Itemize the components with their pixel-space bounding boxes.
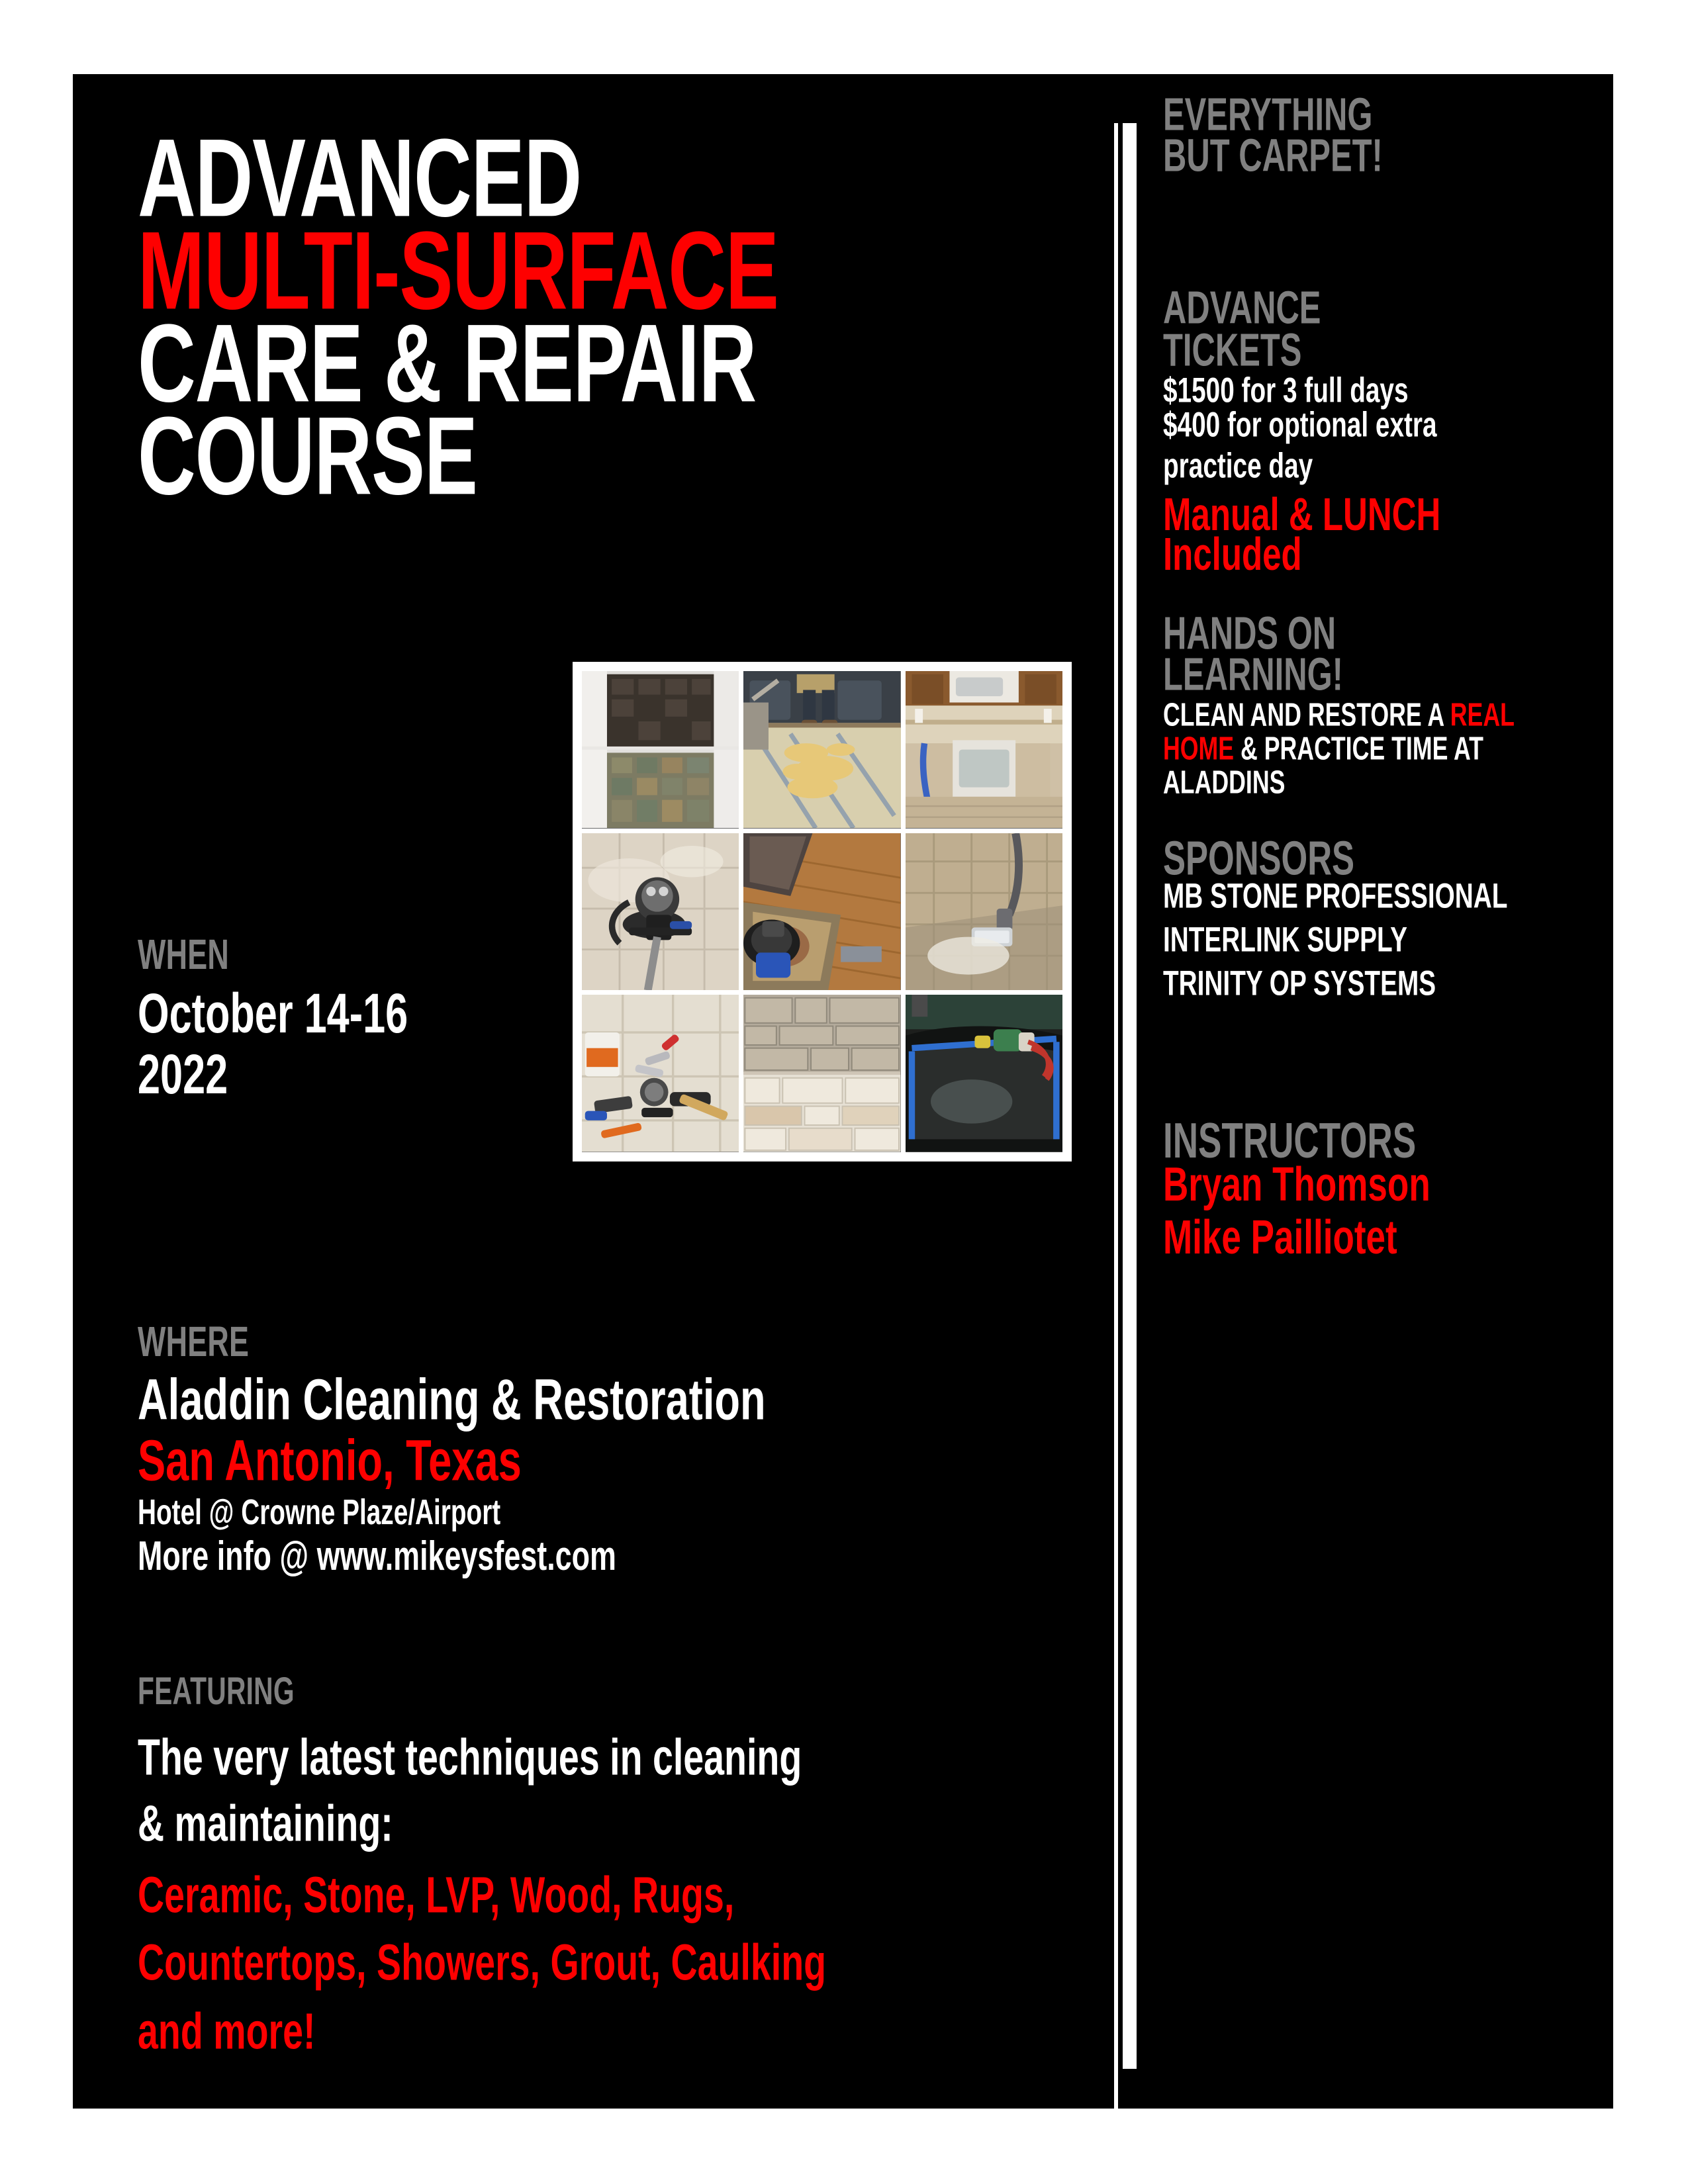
- photo-rug-cleaning-in-living-room: [743, 671, 900, 829]
- hands-on-detail-line-1: CLEAN AND RESTORE A REAL: [1163, 699, 1515, 731]
- featuring-line-4: Countertops, Showers, Grout, Caulking: [138, 1937, 826, 1988]
- featuring-line-5: and more!: [138, 2006, 316, 2057]
- photo-grout-repair-tools-on-tile: [582, 995, 739, 1152]
- ticket-price-extra-day: $400 for optional extra: [1163, 408, 1437, 443]
- column-divider-thin: [1114, 123, 1118, 2109]
- headline-line-4: COURSE: [138, 410, 1092, 504]
- hands-on-detail-1a: CLEAN AND RESTORE A: [1163, 697, 1450, 733]
- instructor-name: Mike Pailliotet: [1163, 1214, 1397, 1262]
- when-kicker: WHEN: [138, 934, 229, 977]
- featuring-line-1: The very latest techniques in cleaning: [138, 1732, 802, 1783]
- photo-kitchen-prepped-with-plastic-sheeting: [906, 671, 1062, 829]
- photo-grid: [582, 671, 1062, 1152]
- where-kicker: WHERE: [138, 1322, 249, 1364]
- where-venue: Aladdin Cleaning & Restoration: [138, 1372, 766, 1430]
- featuring-kicker: FEATURING: [138, 1672, 295, 1711]
- where-section: WHERE Aladdin Cleaning & Restoration San…: [138, 1322, 247, 1351]
- photo-rug-and-hardwood-floor-with-buffer: [743, 833, 900, 991]
- hands-on-detail-2b: & PRACTICE TIME AT: [1234, 731, 1483, 767]
- hands-on-detail-line-2: HOME & PRACTICE TIME AT: [1163, 733, 1483, 765]
- right-column: EVERYTHING BUT CARPET! ADVANCE TICKETS $…: [1137, 74, 1613, 2109]
- hands-on-learning-kicker-line-2: LEARNING!: [1163, 653, 1343, 698]
- sponsor-item: TRINITY OP SYSTEMS: [1163, 966, 1436, 1001]
- photo-wand-cleaning-stone-tile: [906, 833, 1062, 991]
- when-date-line-1: October 14-16: [138, 986, 408, 1042]
- left-column: ADVANCED MULTI-SURFACE CARE & REPAIR COU…: [73, 74, 1114, 2109]
- photo-granite-countertop-taped-for-polishing: [906, 995, 1062, 1152]
- ticket-included-line-2: Included: [1163, 531, 1302, 577]
- sponsors-kicker: SPONSORS: [1163, 835, 1354, 882]
- when-section: WHEN October 14-16 2022: [138, 934, 227, 964]
- hands-on-detail-line-3: ALADDINS: [1163, 766, 1285, 799]
- when-date-line-2: 2022: [138, 1047, 228, 1103]
- everything-but-carpet-line-2: BUT CARPET!: [1163, 134, 1383, 179]
- event-poster: ADVANCED MULTI-SURFACE CARE & REPAIR COU…: [73, 74, 1613, 2109]
- where-more-info-url[interactable]: More info @ www.mikeysfest.com: [138, 1536, 616, 1577]
- hands-on-detail-2a: HOME: [1163, 731, 1234, 767]
- photo-collage: [573, 662, 1072, 1161]
- instructor-name: Bryan Thomson: [1163, 1161, 1430, 1209]
- photo-travertine-paver-before-after: [743, 995, 900, 1152]
- photo-slate-tile-floor-before-after: [582, 671, 739, 829]
- column-divider-thick: [1123, 123, 1137, 2069]
- ticket-price-3-day: $1500 for 3 full days: [1163, 373, 1409, 408]
- where-city: San Antonio, Texas: [138, 1433, 522, 1490]
- page-title: ADVANCED MULTI-SURFACE CARE & REPAIR COU…: [138, 132, 1064, 476]
- hands-on-detail-1b: REAL: [1450, 697, 1515, 733]
- featuring-line-3: Ceramic, Stone, LVP, Wood, Rugs,: [138, 1870, 734, 1921]
- advance-tickets-kicker-line-1: ADVANCE: [1163, 286, 1321, 331]
- sponsor-item: INTERLINK SUPPLY: [1163, 923, 1407, 958]
- advance-tickets-kicker-line-2: TICKETS: [1163, 328, 1301, 373]
- sponsor-item: MB STONE PROFESSIONAL: [1163, 879, 1507, 914]
- where-hotel: Hotel @ Crowne Plaze/Airport: [138, 1495, 500, 1531]
- ticket-price-extra-day-cont: practice day: [1163, 449, 1313, 484]
- photo-rotary-machine-on-polished-tile: [582, 833, 739, 991]
- featuring-line-2: & maintaining:: [138, 1798, 393, 1849]
